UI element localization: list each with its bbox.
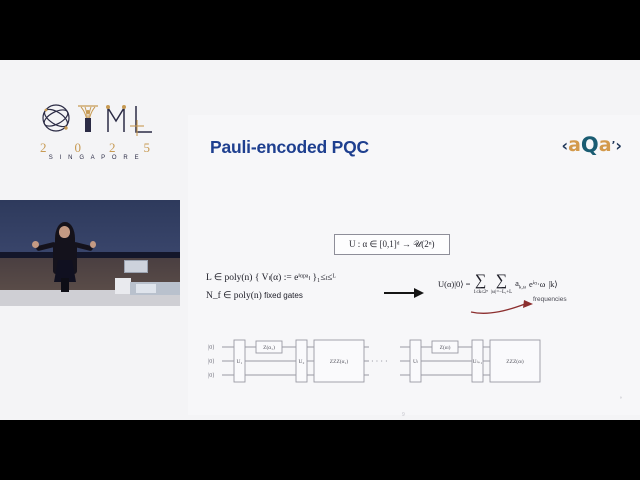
video-content-band: 2 0 2 5 S I N G A P O R E xyxy=(0,60,640,420)
aqa-logo-icon: ‹ a Q a ʼ › xyxy=(561,135,622,156)
logo-year: 2 0 2 5 xyxy=(40,140,150,156)
aqa-letter-q: Q xyxy=(581,135,599,156)
year-digit-5: 5 xyxy=(144,140,151,156)
coefficient-subscript: k,ω xyxy=(519,285,526,290)
speaker-right-hand xyxy=(90,241,96,248)
svg-text:|0⟩: |0⟩ xyxy=(208,358,215,365)
svg-text:Z(αₗ): Z(αₗ) xyxy=(440,344,451,351)
sigma-symbol-2: ∑ xyxy=(496,273,507,289)
speaker-left-hand xyxy=(32,241,39,248)
svg-text:Uₗ₊₁: Uₗ₊₁ xyxy=(473,359,483,365)
logo-city-label: S I N G A P O R E xyxy=(38,155,152,161)
svg-text:U₁: U₁ xyxy=(237,359,243,365)
sigma-limits-1: 1≤k≤2ⁿ xyxy=(473,290,488,295)
svg-text:|0⟩: |0⟩ xyxy=(208,372,215,379)
aqa-bracket-right: › xyxy=(615,138,622,154)
summation-2: ∑ |ω|=−L,+L xyxy=(491,273,512,295)
left-math-block: L ∈ poly(n) { Vₗ(α) := eⁱᵅᵖᵃₗ }₁≤ₗ≤ᴸ N_f… xyxy=(206,270,336,305)
sigma-symbol-1: ∑ xyxy=(475,273,486,289)
left-math-line-2-text: fixed gates xyxy=(264,291,303,300)
coefficient-term: ak,ω xyxy=(515,278,526,291)
svg-text:ZZZ(αₗ): ZZZ(αₗ) xyxy=(506,358,524,365)
year-digit-0: 0 xyxy=(75,140,82,156)
svg-text:U₂: U₂ xyxy=(299,359,305,365)
boxed-map-formula: U : α ∈ [0,1]ᵈ → 𝒰(2ⁿ) xyxy=(334,234,450,255)
svg-text:|0⟩: |0⟩ xyxy=(208,344,215,351)
presentation-slide: Pauli-encoded PQC ‹ a Q a ʼ › U : α ∈ [0… xyxy=(188,115,640,415)
podium xyxy=(115,278,131,294)
pauli-encoded-circuit-diagram: |0⟩ |0⟩ |0⟩ U₁ Z(α₁) U₂ xyxy=(204,337,624,387)
slide-page-number: 9 xyxy=(402,412,405,418)
summation-1: ∑ 1≤k≤2ⁿ xyxy=(473,273,488,295)
speaker-legs xyxy=(61,278,69,292)
right-math-block: U(α)|0⟩ = ∑ 1≤k≤2ⁿ ∑ |ω|=−L,+L ak,ω eⁱᵅ·… xyxy=(438,273,558,295)
ket-term: |k⟩ xyxy=(548,279,557,290)
aqa-letter-a-first: a xyxy=(568,136,581,155)
svg-text:Z(α₁): Z(α₁) xyxy=(263,344,275,351)
exponential-term: eⁱᵅ·ω xyxy=(529,279,545,290)
page-title: Pauli-encoded PQC xyxy=(210,137,369,158)
left-math-line-1: L ∈ poly(n) { Vₗ(α) := eⁱᵅᵖᵃₗ }₁≤ₗ≤ᴸ xyxy=(206,270,336,288)
right-math-lhs: U(α)|0⟩ = xyxy=(438,279,470,290)
aqa-letter-a-second: a xyxy=(599,136,612,155)
year-digit-2: 2 xyxy=(40,140,47,156)
video-player-frame: 2 0 2 5 S I N G A P O R E xyxy=(0,0,640,480)
svg-text:Uₗ: Uₗ xyxy=(413,359,418,365)
year-digit-2b: 2 xyxy=(109,140,116,156)
svg-text:ZZZ(α₁): ZZZ(α₁) xyxy=(330,358,349,365)
speaker-video-tile xyxy=(0,200,180,306)
projector-unit xyxy=(124,260,148,273)
aqa-bracket-left: ‹ xyxy=(561,138,568,154)
frequencies-annotation-label: frequencies xyxy=(533,296,567,303)
sigma-limits-2: |ω|=−L,+L xyxy=(491,290,512,295)
left-column: 2 0 2 5 S I N G A P O R E xyxy=(0,60,188,420)
left-math-line-2-math: N_f ∈ poly(n) xyxy=(206,291,262,301)
table-monitor xyxy=(136,284,156,293)
speaker-head xyxy=(59,226,70,238)
implies-arrow-icon xyxy=(384,286,424,300)
svg-text:· · · ·: · · · · xyxy=(371,357,388,366)
slide-corner-marker: ° xyxy=(620,397,622,403)
left-math-line-2: N_f ∈ poly(n) fixed gates xyxy=(206,288,336,306)
